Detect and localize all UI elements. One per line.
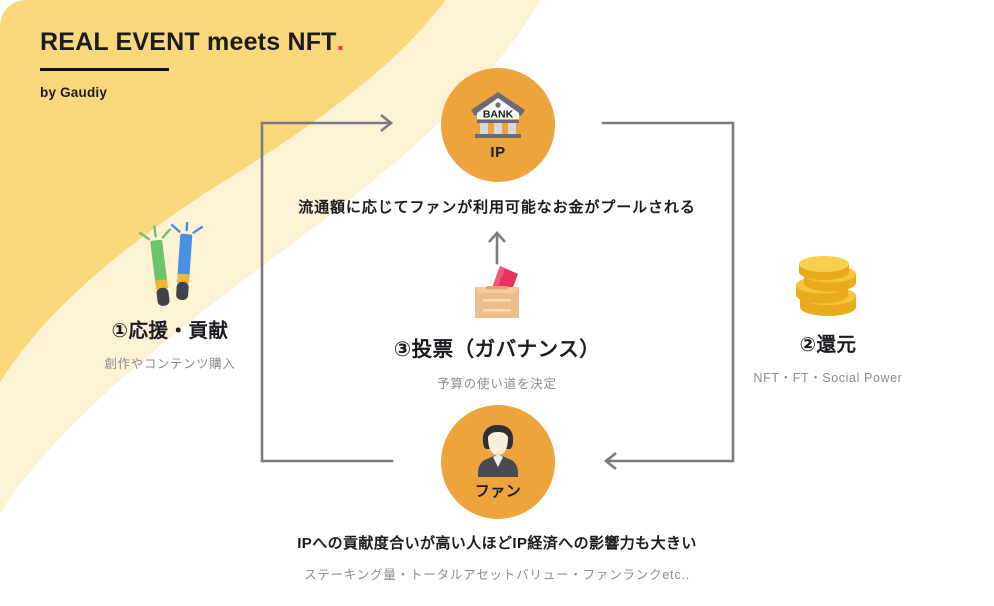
step-vote-subtitle: 予算の使い道を決定 <box>337 373 657 392</box>
step-vote-title: ③投票（ガバナンス） <box>337 332 657 362</box>
step-reward-title: ②還元 <box>698 328 958 357</box>
bank-icon: BANK <box>467 89 529 141</box>
node-fan-label: ファン <box>475 480 522 501</box>
svg-text:BANK: BANK <box>483 109 514 121</box>
coins-icon <box>698 236 958 320</box>
person-icon <box>469 423 527 477</box>
bottom-caption-sub: ステーキング量・トータルアセットバリュー・ファンランクetc.. <box>0 564 994 583</box>
glowstick-icon <box>40 222 300 306</box>
bottom-captions: IPへの貢献度合いが高い人ほどIP経済への影響力も大きい ステーキング量・トータ… <box>0 532 994 583</box>
step-support-subtitle: 創作やコンテンツ購入 <box>40 353 300 372</box>
node-ip[interactable]: BANK IP <box>441 68 555 182</box>
pool-caption: 流通額に応じてファンが利用可能なお金がプールされる <box>0 196 994 217</box>
step-support: ①応援・貢献 創作やコンテンツ購入 <box>40 222 300 372</box>
step-reward: ②還元 NFT・FT・Social Power <box>698 236 958 386</box>
node-ip-label: IP <box>490 144 505 161</box>
step-vote: ③投票（ガバナンス） 予算の使い道を決定 <box>337 262 657 392</box>
bottom-caption-main: IPへの貢献度合いが高い人ほどIP経済への影響力も大きい <box>0 532 994 553</box>
diagram-card: REAL EVENT meets NFT. by Gaudiy <box>0 0 994 606</box>
ballot-box-icon <box>337 262 657 324</box>
step-support-title: ①応援・貢献 <box>40 314 300 343</box>
step-reward-subtitle: NFT・FT・Social Power <box>698 367 958 386</box>
node-fan[interactable]: ファン <box>441 405 555 519</box>
